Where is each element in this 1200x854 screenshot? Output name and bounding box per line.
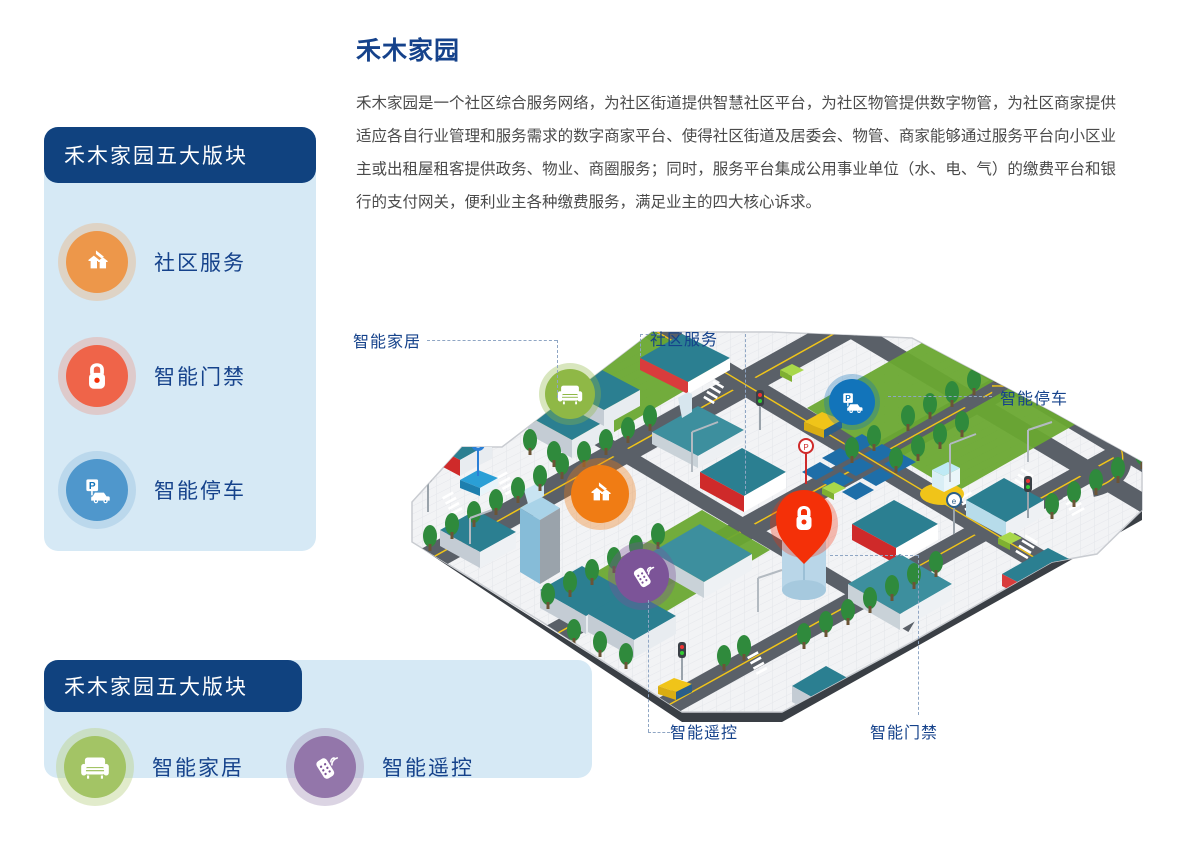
leader-line-remote-v: [648, 600, 649, 732]
svg-text:e: e: [952, 497, 957, 506]
module-label: 智能停车: [154, 475, 246, 505]
module-label: 社区服务: [154, 247, 246, 277]
svg-text:e: e: [476, 441, 481, 450]
page-title: 禾木家园: [356, 36, 1126, 66]
leader-line-smart-home-h: [427, 340, 557, 341]
map-marker-smart-remote[interactable]: [608, 542, 676, 610]
page-description: 禾木家园是一个社区综合服务网络，为社区街道提供智慧社区平台，为社区物管提供数字物…: [356, 88, 1116, 219]
map-marker-smart-home[interactable]: [539, 363, 601, 425]
module-item-smart-access[interactable]: 智能门禁: [44, 319, 316, 433]
intro-block: 禾木家园 禾木家园是一个社区综合服务网络，为社区街道提供智慧社区平台，为社区物管…: [356, 36, 1126, 219]
map-callout-community-service: 社区服务: [650, 326, 718, 350]
module-list: 社区服务 智能门禁 智能停车: [44, 183, 316, 547]
module-item-community-service[interactable]: 社区服务: [44, 205, 316, 319]
panel-heading: 禾木家园五大版块: [44, 660, 302, 712]
leader-line-service-v2: [745, 334, 746, 494]
module-item-smart-home[interactable]: 智能家居: [64, 718, 294, 816]
five-modules-panel-primary: 禾木家园五大版块 社区服务 智能门禁 智能停车: [44, 127, 316, 551]
module-label: 智能门禁: [154, 361, 246, 391]
leader-line-parking-h: [888, 396, 992, 397]
two-houses-icon: [66, 231, 128, 293]
map-callout-smart-access: 智能门禁: [870, 719, 938, 743]
leader-line-access-h: [830, 555, 918, 556]
map-marker-community-service[interactable]: [564, 458, 636, 530]
panel-heading: 禾木家园五大版块: [44, 127, 316, 183]
map-callout-smart-parking: 智能停车: [1000, 385, 1068, 409]
leader-line-access-v: [918, 555, 919, 715]
infographic-root: P: [0, 0, 1200, 854]
map-illustration: P e e: [352, 312, 1200, 752]
svg-text:P: P: [803, 443, 808, 452]
map-marker-smart-parking[interactable]: [824, 374, 880, 430]
leader-line-service-v1: [640, 334, 641, 356]
map-callout-smart-remote: 智能遥控: [670, 719, 738, 743]
module-label: 智能家居: [152, 752, 244, 782]
padlock-icon: [66, 345, 128, 407]
isometric-city-map: P e e: [352, 312, 1200, 752]
armchair-icon: [64, 736, 126, 798]
map-callout-smart-home: 智能家居: [353, 328, 421, 352]
leader-line-remote-h: [648, 732, 670, 733]
parking-car-icon: [66, 459, 128, 521]
module-item-smart-parking[interactable]: 智能停车: [44, 433, 316, 547]
module-label: 智能遥控: [382, 752, 474, 782]
leader-line-smart-home-v: [557, 340, 558, 398]
remote-control-icon: [294, 736, 356, 798]
